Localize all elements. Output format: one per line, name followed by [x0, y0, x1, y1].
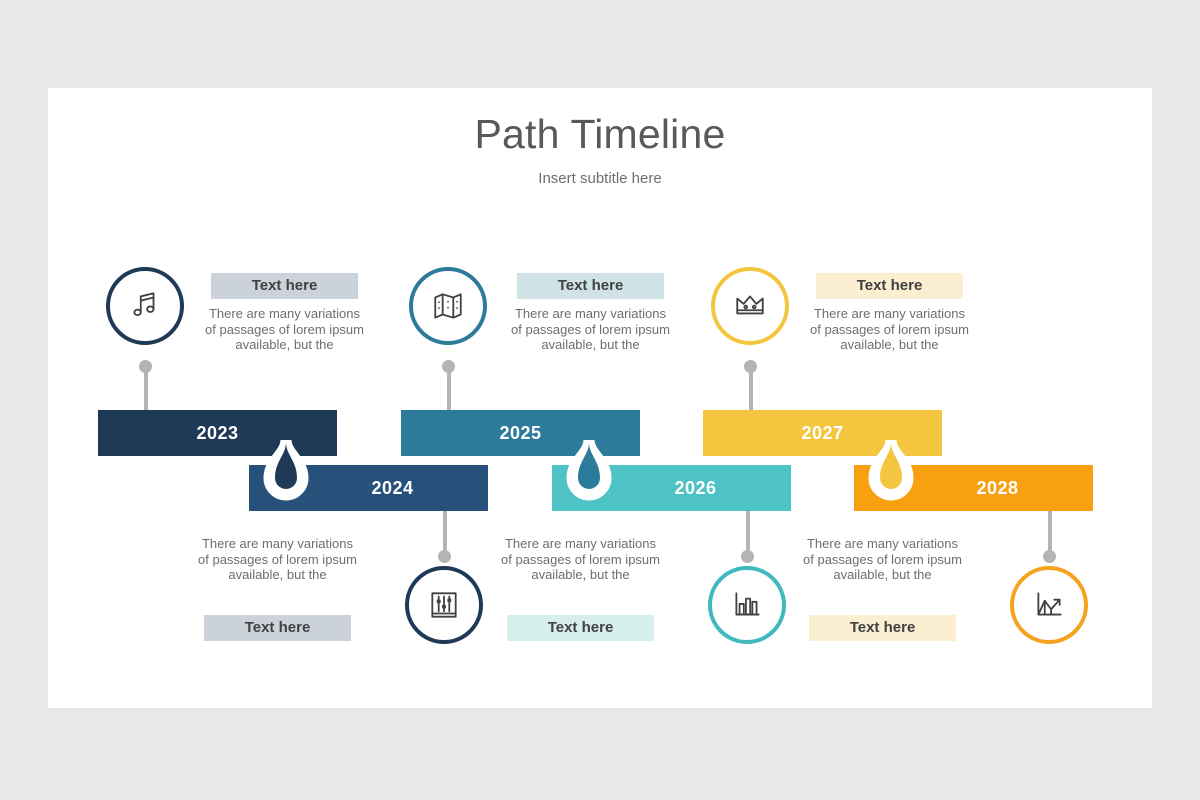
year-bar-2028[interactable]: 2028	[854, 465, 1093, 511]
year-label: 2028	[854, 465, 1093, 511]
label-band-text: Text here	[252, 277, 318, 294]
stem-line-2027	[749, 366, 753, 410]
description-2025: There are many variations of passages of…	[509, 306, 672, 353]
stem-line-2028	[1048, 511, 1052, 555]
page-subtitle: Insert subtitle here	[48, 170, 1152, 187]
description-2023: There are many variations of passages of…	[203, 306, 366, 353]
label-band-2024: Text here	[204, 615, 351, 641]
stem-line-2025	[447, 366, 451, 410]
label-band-text: Text here	[245, 619, 311, 636]
label-band-text: Text here	[857, 277, 923, 294]
year-label: 2027	[703, 410, 942, 456]
stem-dot-2024	[438, 550, 451, 563]
bar-chart-icon	[730, 588, 764, 622]
label-band-text: Text here	[548, 619, 614, 636]
milestone-icon-2025[interactable]	[409, 267, 487, 345]
year-label: 2026	[552, 465, 791, 511]
description-2027: There are many variations of passages of…	[808, 306, 971, 353]
year-bar-2026[interactable]: 2026	[552, 465, 791, 511]
label-band-2023: Text here	[211, 273, 358, 299]
year-bar-2023[interactable]: 2023	[98, 410, 337, 456]
stem-dot-2026	[741, 550, 754, 563]
slide-card: Path Timeline Insert subtitle here Text …	[48, 88, 1152, 708]
year-bar-2027[interactable]: 2027	[703, 410, 942, 456]
map-icon	[431, 289, 465, 323]
label-band-2027: Text here	[816, 273, 963, 299]
description-2024: There are many variations of passages of…	[196, 536, 359, 583]
label-band-text: Text here	[558, 277, 624, 294]
milestone-icon-2026[interactable]	[708, 566, 786, 644]
year-bar-2025[interactable]: 2025	[401, 410, 640, 456]
year-bar-2024[interactable]: 2024	[249, 465, 488, 511]
description-2026: There are many variations of passages of…	[499, 536, 662, 583]
year-label: 2024	[249, 465, 488, 511]
label-band-2028: Text here	[809, 615, 956, 641]
milestone-icon-2027[interactable]	[711, 267, 789, 345]
equalizer-icon	[427, 588, 461, 622]
music-note-icon	[128, 289, 162, 323]
stem-line-2026	[746, 511, 750, 555]
year-label: 2025	[401, 410, 640, 456]
page-title: Path Timeline	[48, 111, 1152, 158]
stem-line-2024	[443, 511, 447, 555]
label-band-2025: Text here	[517, 273, 664, 299]
growth-chart-icon	[1032, 588, 1066, 622]
stem-line-2023	[144, 366, 148, 410]
milestone-icon-2023[interactable]	[106, 267, 184, 345]
year-label: 2023	[98, 410, 337, 456]
description-2028: There are many variations of passages of…	[801, 536, 964, 583]
milestone-icon-2028[interactable]	[1010, 566, 1088, 644]
stem-dot-2028	[1043, 550, 1056, 563]
milestone-icon-2024[interactable]	[405, 566, 483, 644]
crown-icon	[733, 289, 767, 323]
label-band-text: Text here	[850, 619, 916, 636]
label-band-2026: Text here	[507, 615, 654, 641]
